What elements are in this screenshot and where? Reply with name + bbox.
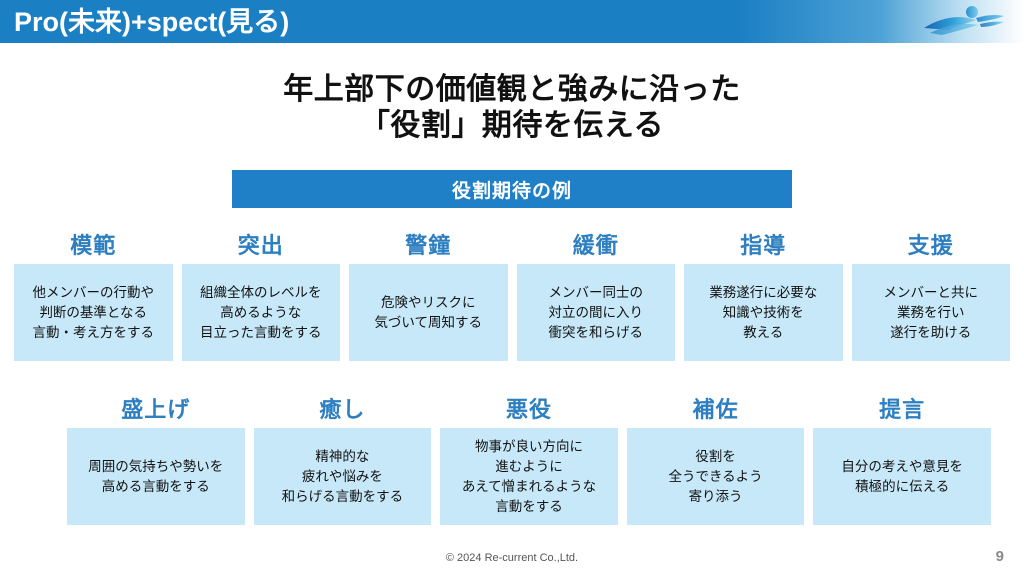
role-card-row-one: 模範他メンバーの行動や判断の基準となる言動・考え方をする突出組織全体のレベルを高… xyxy=(14,232,1010,361)
page-title: 年上部下の価値観と強みに沿った 「役割」期待を伝える xyxy=(0,72,1024,144)
role-card-line: メンバー同士の xyxy=(549,283,644,303)
role-card-body: 業務遂行に必要な知識や技術を教える xyxy=(684,264,843,361)
role-card: 突出組織全体のレベルを高めるような目立った言動をする xyxy=(182,232,341,361)
role-card-label: 指導 xyxy=(684,232,843,264)
role-card-label: 緩衝 xyxy=(517,232,676,264)
role-card-line: あえて憎まれるような xyxy=(462,477,596,497)
role-card: 模範他メンバーの行動や判断の基準となる言動・考え方をする xyxy=(14,232,173,361)
role-card-body: 組織全体のレベルを高めるような目立った言動をする xyxy=(182,264,341,361)
role-card: 補佐役割を全うできるよう寄り添う xyxy=(627,396,805,525)
page-number: 9 xyxy=(996,548,1004,565)
role-card-label: 癒し xyxy=(254,396,432,428)
role-card: 緩衝メンバー同士の対立の間に入り衝突を和らげる xyxy=(517,232,676,361)
role-card-line: 教える xyxy=(709,323,817,343)
role-card-line: 業務を行い xyxy=(884,303,979,323)
role-card-line: 言動をする xyxy=(462,497,596,517)
page-title-line2: 「役割」期待を伝える xyxy=(0,108,1024,144)
role-card-body: メンバーと共に業務を行い遂行を助ける xyxy=(852,264,1011,361)
copyright-text: © 2024 Re-current Co.,Ltd. xyxy=(0,552,1024,564)
role-card-line: 組織全体のレベルを xyxy=(200,283,322,303)
role-card: 盛上げ周囲の気持ちや勢いを高める言動をする xyxy=(67,396,245,525)
role-card-body: 自分の考えや意見を積極的に伝える xyxy=(813,428,991,525)
role-card-line: 疲れや悩みを xyxy=(282,467,404,487)
section-banner: 役割期待の例 xyxy=(232,170,792,208)
role-card-line: 衝突を和らげる xyxy=(549,323,644,343)
role-card-line: 気づいて周知する xyxy=(374,313,482,333)
role-card-label: 警鐘 xyxy=(349,232,508,264)
role-card: 警鐘危険やリスクに気づいて周知する xyxy=(349,232,508,361)
role-card: 指導業務遂行に必要な知識や技術を教える xyxy=(684,232,843,361)
role-card-line: 対立の間に入り xyxy=(549,303,644,323)
role-card-line: 目立った言動をする xyxy=(200,323,322,343)
role-card-body: メンバー同士の対立の間に入り衝突を和らげる xyxy=(517,264,676,361)
role-card-line: 他メンバーの行動や xyxy=(33,283,155,303)
role-card-line: 物事が良い方向に xyxy=(462,437,596,457)
role-card-label: 突出 xyxy=(182,232,341,264)
role-card-label: 補佐 xyxy=(627,396,805,428)
role-card-label: 悪役 xyxy=(440,396,618,428)
role-card-body: 危険やリスクに気づいて周知する xyxy=(349,264,508,361)
role-card: 支援メンバーと共に業務を行い遂行を助ける xyxy=(852,232,1011,361)
role-card-label: 支援 xyxy=(852,232,1011,264)
role-card-line: 全うできるよう xyxy=(668,467,762,487)
role-card-line: 遂行を助ける xyxy=(884,323,979,343)
role-card-line: 進むように xyxy=(462,457,596,477)
role-card-line: 周囲の気持ちや勢いを xyxy=(88,457,223,477)
header-title: Pro(未来)+spect(見る) xyxy=(14,3,289,41)
role-card-line: 言動・考え方をする xyxy=(33,323,155,343)
role-card: 提言自分の考えや意見を積極的に伝える xyxy=(813,396,991,525)
role-card-body: 物事が良い方向に進むようにあえて憎まれるような言動をする xyxy=(440,428,618,525)
role-card-line: 寄り添う xyxy=(668,487,762,507)
role-card-label: 模範 xyxy=(14,232,173,264)
role-card-line: メンバーと共に xyxy=(884,283,979,303)
role-card-line: 役割を xyxy=(668,447,762,467)
role-card-line: 判断の基準となる xyxy=(33,303,155,323)
role-card-line: 高めるような xyxy=(200,303,322,323)
page-title-line1: 年上部下の価値観と強みに沿った xyxy=(0,72,1024,108)
role-card-line: 自分の考えや意見を xyxy=(841,457,963,477)
role-card-line: 積極的に伝える xyxy=(841,477,963,497)
role-card-line: 和らげる言動をする xyxy=(282,487,404,507)
role-card-body: 精神的な疲れや悩みを和らげる言動をする xyxy=(254,428,432,525)
bird-swoosh-logo-icon xyxy=(920,4,1006,38)
role-card: 悪役物事が良い方向に進むようにあえて憎まれるような言動をする xyxy=(440,396,618,525)
role-card-line: 知識や技術を xyxy=(709,303,817,323)
role-card-body: 役割を全うできるよう寄り添う xyxy=(627,428,805,525)
role-card-line: 危険やリスクに xyxy=(374,293,482,313)
role-card-row-two: 盛上げ周囲の気持ちや勢いを高める言動をする癒し精神的な疲れや悩みを和らげる言動を… xyxy=(67,396,991,525)
role-card-label: 提言 xyxy=(813,396,991,428)
role-card-body: 他メンバーの行動や判断の基準となる言動・考え方をする xyxy=(14,264,173,361)
role-card-line: 精神的な xyxy=(282,447,404,467)
role-card-label: 盛上げ xyxy=(67,396,245,428)
role-card-line: 業務遂行に必要な xyxy=(709,283,817,303)
role-card-line: 高める言動をする xyxy=(88,477,223,497)
role-card-body: 周囲の気持ちや勢いを高める言動をする xyxy=(67,428,245,525)
role-card: 癒し精神的な疲れや悩みを和らげる言動をする xyxy=(254,396,432,525)
